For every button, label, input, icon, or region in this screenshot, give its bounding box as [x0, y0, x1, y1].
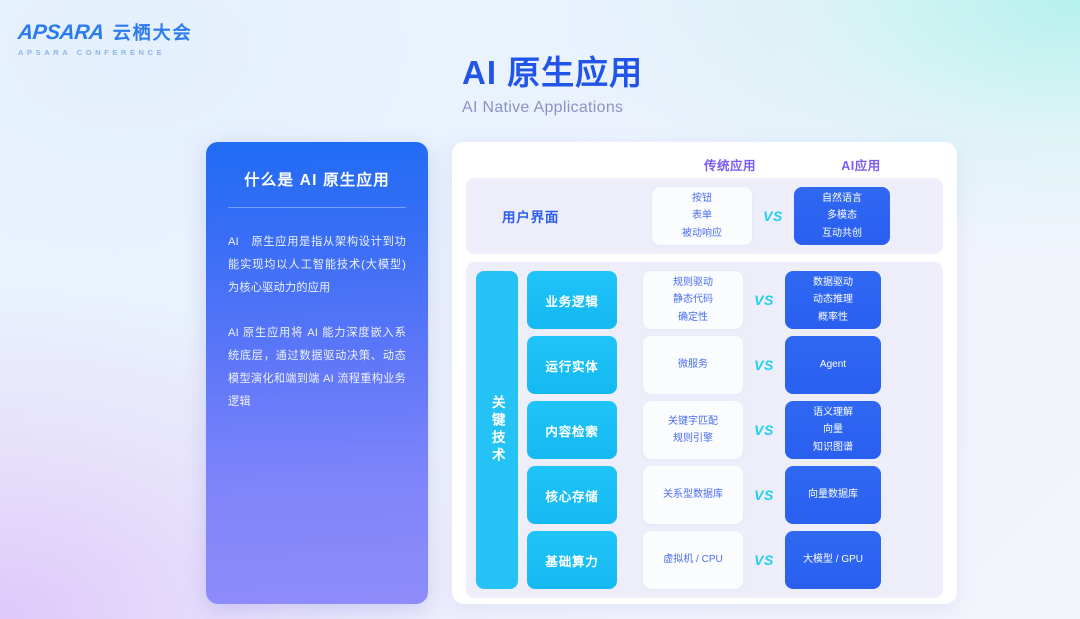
logo-tagline: APSARA CONFERENCE: [18, 48, 193, 57]
tech-traditional-cell: 关系型数据库: [643, 466, 743, 524]
logo-primary-row: APSARA 云栖大会: [18, 19, 193, 45]
key-technology-band: 关键技术 业务逻辑 规则驱动 静态代码 确定性 VS 数据驱动 动态推理 概率性: [466, 262, 943, 598]
tech-chip-compute-power: 基础算力: [527, 531, 617, 589]
ai-line-3: 知识图谱: [813, 439, 853, 456]
tech-ai-cell: Agent: [785, 336, 881, 394]
column-header-ai: AI应用: [796, 155, 926, 174]
comparison-panel: 传统应用 AI应用 用户界面 按钮 表单 被动响应 VS 自然语言 多模态 互动…: [452, 142, 957, 604]
vs-badge: VS: [752, 187, 794, 245]
ai-line-1: 数据驱动: [813, 274, 853, 291]
tech-traditional-cell: 规则驱动 静态代码 确定性: [643, 271, 743, 329]
ui-traditional-cell: 按钮 表单 被动响应: [652, 187, 752, 245]
page-subtitle: AI Native Applications: [462, 99, 643, 117]
ui-trad-line-3: 被动响应: [682, 225, 722, 242]
ui-layer-label: 用户界面: [476, 187, 626, 245]
trad-line-1: 规则驱动: [673, 274, 713, 291]
tech-ai-cell: 向量数据库: [785, 466, 881, 524]
logo-wordmark-cn: 云栖大会: [113, 19, 193, 45]
ai-line-1: 语义理解: [813, 404, 853, 421]
vs-badge: VS: [743, 401, 785, 459]
page-title-block: AI 原生应用 AI Native Applications: [462, 52, 643, 117]
trad-line-3: 确定性: [678, 309, 708, 326]
key-technology-rows: 业务逻辑 规则驱动 静态代码 确定性 VS 数据驱动 动态推理 概率性: [527, 271, 933, 589]
ai-line-1: Agent: [820, 356, 846, 373]
tech-chip-content-retrieval: 内容检索: [527, 401, 617, 459]
vs-badge: VS: [743, 531, 785, 589]
ui-trad-line-2: 表单: [692, 207, 712, 224]
tech-row: 基础算力 虚拟机 / CPU VS 大模型 / GPU: [527, 531, 933, 589]
trad-line-2: 规则引擎: [673, 430, 713, 447]
key-technology-inner: 关键技术 业务逻辑 规则驱动 静态代码 确定性 VS 数据驱动 动态推理 概率性: [476, 271, 933, 589]
ui-ai-cell: 自然语言 多模态 互动共创: [794, 187, 890, 245]
ai-line-1: 向量数据库: [808, 486, 858, 503]
logo-wordmark-en: APSARA: [17, 21, 105, 45]
ui-ai-line-3: 互动共创: [822, 225, 862, 242]
tech-row: 内容检索 关键字匹配 规则引擎 VS 语义理解 向量 知识图谱: [527, 401, 933, 459]
ui-trad-line-1: 按钮: [692, 190, 712, 207]
definition-paragraph-1: AI 原生应用是指从架构设计到功能实现均以人工智能技术(大模型)为核心驱动力的应…: [228, 231, 406, 300]
tech-row: 运行实体 微服务 VS Agent: [527, 336, 933, 394]
key-technology-vertical-label: 关键技术: [476, 271, 518, 589]
tech-traditional-cell: 虚拟机 / CPU: [643, 531, 743, 589]
tech-traditional-cell: 微服务: [643, 336, 743, 394]
ui-layer-row: 用户界面 按钮 表单 被动响应 VS 自然语言 多模态 互动共创: [476, 187, 933, 245]
tech-ai-cell: 数据驱动 动态推理 概率性: [785, 271, 881, 329]
column-header-traditional: 传统应用: [670, 155, 790, 174]
page-title: AI 原生应用: [462, 52, 643, 93]
definition-paragraph-2: AI 原生应用将 AI 能力深度嵌入系统底层，通过数据驱动决策、动态模型演化和端…: [228, 322, 406, 414]
tech-ai-cell: 语义理解 向量 知识图谱: [785, 401, 881, 459]
apsara-logo: APSARA 云栖大会 APSARA CONFERENCE: [18, 19, 193, 57]
tech-row: 业务逻辑 规则驱动 静态代码 确定性 VS 数据驱动 动态推理 概率性: [527, 271, 933, 329]
trad-line-2: 静态代码: [673, 291, 713, 308]
vs-badge: VS: [743, 336, 785, 394]
trad-line-1: 微服务: [678, 356, 708, 373]
key-technology-vertical-text: 关键技术: [490, 395, 504, 465]
ai-line-1: 大模型 / GPU: [803, 551, 863, 568]
trad-line-1: 关键字匹配: [668, 413, 718, 430]
tech-row: 核心存储 关系型数据库 VS 向量数据库: [527, 466, 933, 524]
tech-traditional-cell: 关键字匹配 规则引擎: [643, 401, 743, 459]
tech-chip-business-logic: 业务逻辑: [527, 271, 617, 329]
ai-line-3: 概率性: [818, 309, 848, 326]
tech-ai-cell: 大模型 / GPU: [785, 531, 881, 589]
definition-card-body: AI 原生应用是指从架构设计到功能实现均以人工智能技术(大模型)为核心驱动力的应…: [228, 231, 406, 414]
tech-chip-runtime-entity: 运行实体: [527, 336, 617, 394]
comparison-column-headers: 传统应用 AI应用: [466, 153, 943, 178]
trad-line-1: 关系型数据库: [663, 486, 723, 503]
ai-line-2: 向量: [823, 421, 843, 438]
definition-card-divider: [228, 207, 406, 208]
ai-line-2: 动态推理: [813, 291, 853, 308]
ui-layer-band: 用户界面 按钮 表单 被动响应 VS 自然语言 多模态 互动共创: [466, 178, 943, 254]
vs-badge: VS: [743, 466, 785, 524]
ui-ai-line-1: 自然语言: [822, 190, 862, 207]
trad-line-1: 虚拟机 / CPU: [663, 551, 722, 568]
definition-card: 什么是 AI 原生应用 AI 原生应用是指从架构设计到功能实现均以人工智能技术(…: [206, 142, 428, 604]
definition-card-title: 什么是 AI 原生应用: [228, 168, 406, 190]
vs-badge: VS: [743, 271, 785, 329]
ui-ai-line-2: 多模态: [827, 207, 857, 224]
tech-chip-core-storage: 核心存储: [527, 466, 617, 524]
